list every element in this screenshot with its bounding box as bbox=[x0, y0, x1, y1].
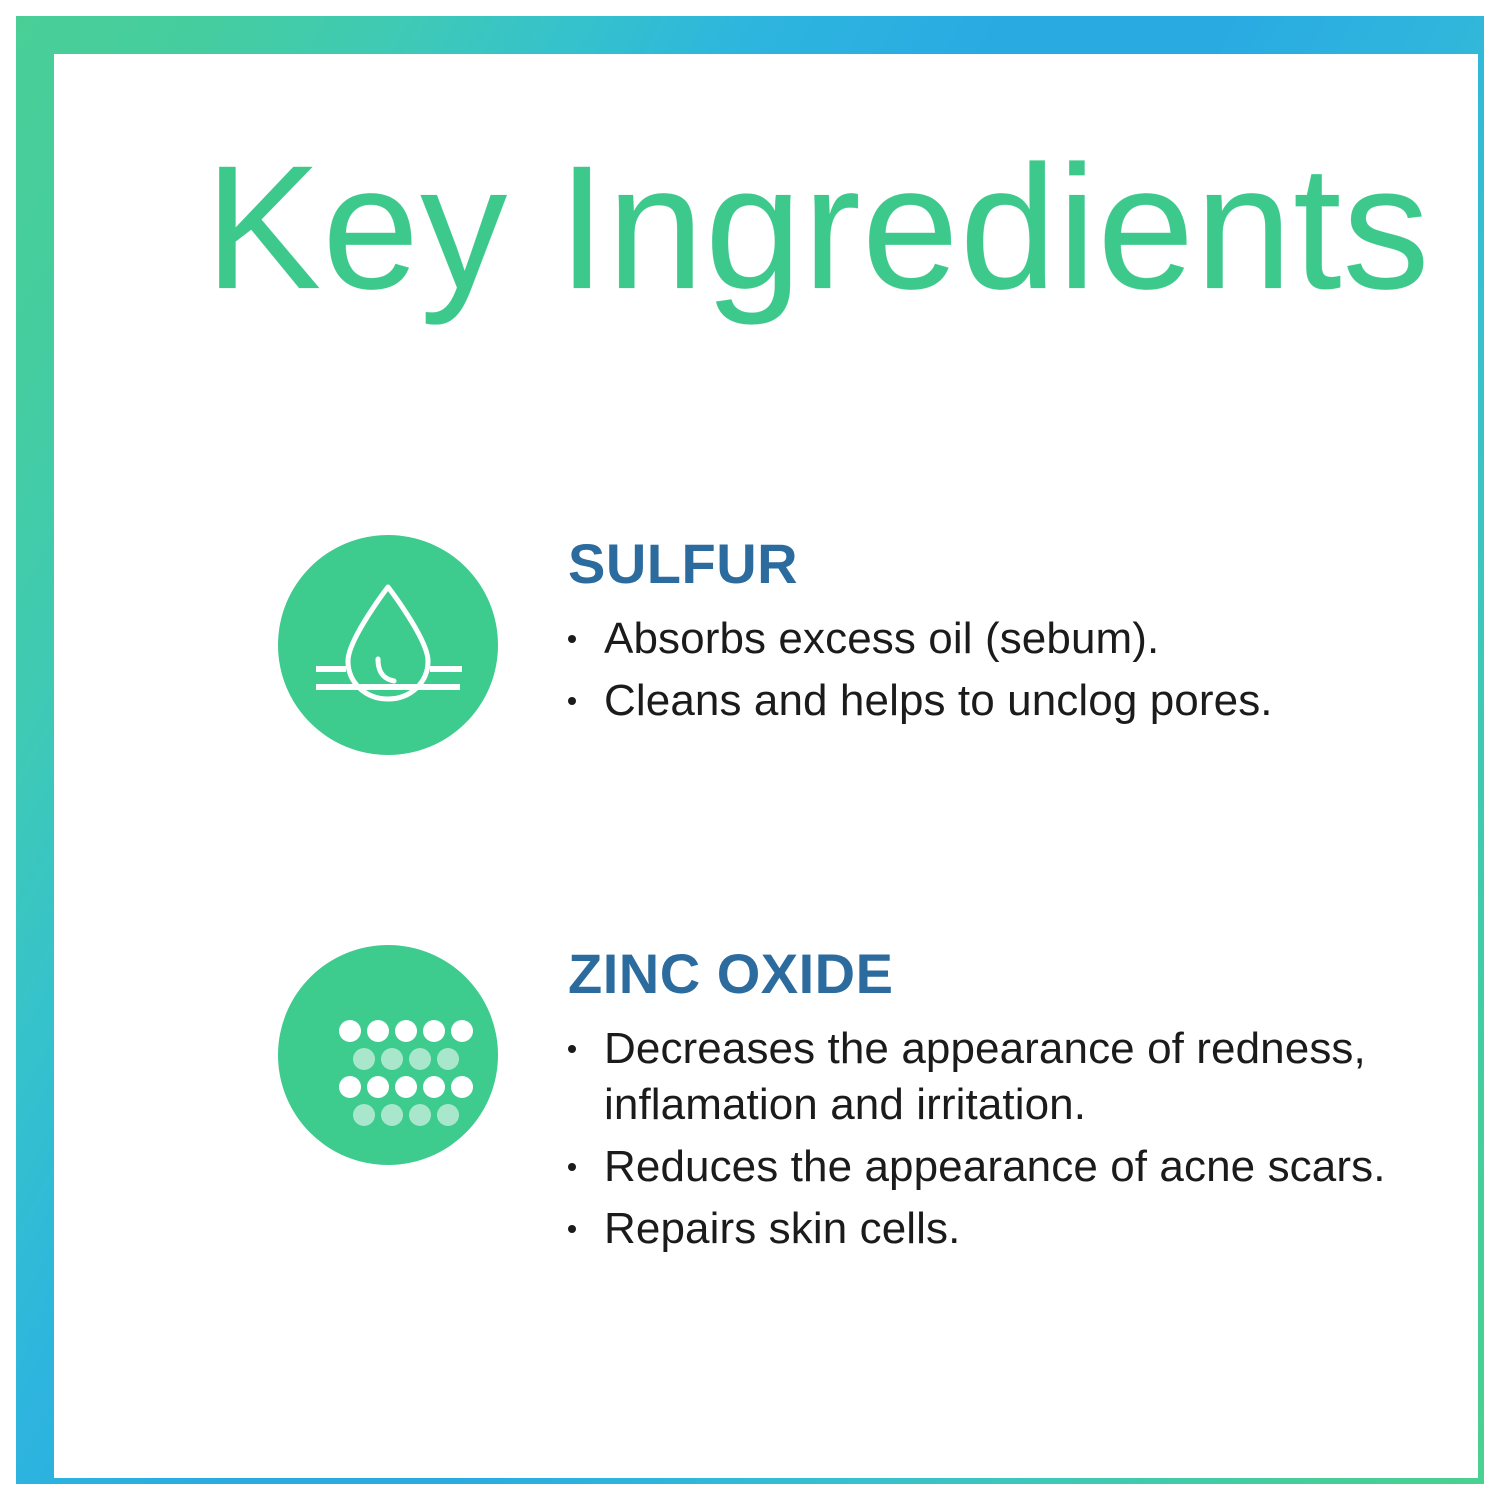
list-item: Repairs skin cells. bbox=[566, 1201, 1426, 1257]
zinc-oxide-icon-badge bbox=[278, 945, 498, 1165]
sulfur-benefit-list: Absorbs excess oil (sebum). Cleans and h… bbox=[566, 611, 1426, 729]
key-ingredients-infographic: Key Ingredients SULFUR Absorb bbox=[0, 0, 1500, 1500]
zinc-oxide-benefit-list: Decreases the appearance of redness, inf… bbox=[566, 1021, 1426, 1257]
list-item-text: Repairs skin cells. bbox=[604, 1201, 1426, 1257]
bullet-dot-icon bbox=[568, 635, 576, 643]
bullet-dot-icon bbox=[568, 1045, 576, 1053]
list-item: Cleans and helps to unclog pores. bbox=[566, 673, 1426, 729]
list-item-text: Cleans and helps to unclog pores. bbox=[604, 673, 1426, 729]
bullet-dot-icon bbox=[568, 1225, 576, 1233]
list-item: Decreases the appearance of redness, inf… bbox=[566, 1021, 1426, 1133]
list-item-text: Reduces the appearance of acne scars. bbox=[604, 1139, 1426, 1195]
sulfur-icon-badge bbox=[278, 535, 498, 755]
bullet-dot-icon bbox=[568, 1163, 576, 1171]
sulfur-content: SULFUR Absorbs excess oil (sebum). Clean… bbox=[566, 535, 1426, 735]
ingredient-heading-sulfur: SULFUR bbox=[568, 535, 1426, 593]
list-item-text: Decreases the appearance of redness, inf… bbox=[604, 1021, 1426, 1133]
page-title: Key Ingredients bbox=[205, 140, 1314, 316]
bullet-dot-icon bbox=[568, 697, 576, 705]
zinc-oxide-content: ZINC OXIDE Decreases the appearance of r… bbox=[566, 945, 1426, 1263]
ingredient-heading-zinc-oxide: ZINC OXIDE bbox=[568, 945, 1426, 1003]
list-item-text: Absorbs excess oil (sebum). bbox=[604, 611, 1426, 667]
dot-grid-particles-icon bbox=[278, 945, 498, 1165]
list-item: Absorbs excess oil (sebum). bbox=[566, 611, 1426, 667]
water-droplet-on-skin-icon bbox=[278, 535, 498, 755]
list-item: Reduces the appearance of acne scars. bbox=[566, 1139, 1426, 1195]
